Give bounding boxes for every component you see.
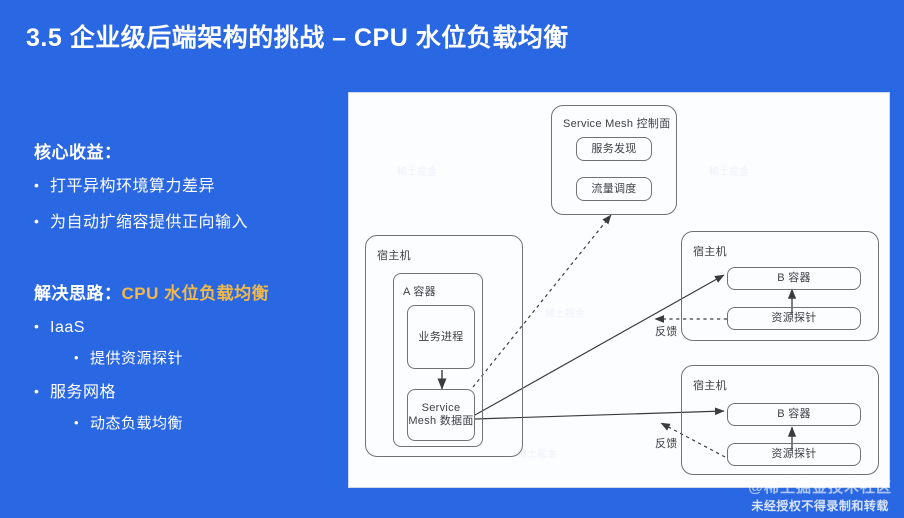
left-host-title: 宿主机 — [377, 247, 411, 263]
solution-label: IaaS — [50, 318, 85, 338]
solution-heading-accent: CPU 水位负载均衡 — [122, 284, 270, 303]
architecture-diagram-panel: 稀土掘金 稀土掘金 稀土掘金 稀土掘金 Service Mesh 控制面 服务发… — [348, 92, 890, 488]
a-container-title: A 容器 — [403, 283, 436, 299]
right-host-2-container-label: B 容器 — [727, 403, 861, 426]
service-discovery-label: 服务发现 — [576, 137, 652, 161]
right-host-1-probe-label: 资源探针 — [727, 307, 861, 330]
right-host-1-container-label: B 容器 — [727, 267, 861, 290]
bullet-dot-icon: • — [34, 213, 50, 231]
right-host-2-probe-label: 资源探针 — [727, 443, 861, 466]
solution-sub-label: 提供资源探针 — [90, 350, 183, 369]
bullet-dot-icon: • — [74, 415, 90, 431]
page-title: 3.5 企业级后端架构的挑战 – CPU 水位负载均衡 — [26, 18, 569, 54]
solution-sub-label: 动态负载均衡 — [90, 415, 183, 434]
list-item: • 为自动扩缩容提供正向输入 — [34, 213, 334, 233]
list-item: • IaaS — [34, 318, 334, 338]
list-item: • 动态负载均衡 — [34, 415, 334, 434]
right-host-1-feedback-label: 反馈 — [655, 323, 678, 339]
watermark-line-2: 未经授权不得录制和转载 — [748, 497, 892, 514]
solution-list: • IaaS • 提供资源探针 • 服务网格 • 动态负载均衡 — [34, 318, 334, 434]
slide-root: 3.5 企业级后端架构的挑战 – CPU 水位负载均衡 核心收益： • 打平异构… — [0, 0, 904, 518]
list-item: • 服务网格 — [34, 383, 334, 403]
list-item: • 提供资源探针 — [34, 350, 334, 369]
bullet-dot-icon: • — [34, 318, 50, 336]
solution-label: 服务网格 — [50, 383, 116, 403]
solution-heading: 解决思路：CPU 水位负载均衡 — [34, 279, 334, 304]
bullet-dot-icon: • — [74, 350, 90, 366]
solution-heading-prefix: 解决思路： — [34, 284, 122, 303]
benefits-heading: 核心收益： — [34, 138, 334, 163]
benefit-label: 打平异构环境算力差异 — [50, 177, 215, 197]
right-host-1-title: 宿主机 — [693, 243, 727, 259]
right-host-2-title: 宿主机 — [693, 377, 727, 393]
bullet-dot-icon: • — [34, 177, 50, 195]
list-item: • 打平异构环境算力差异 — [34, 177, 334, 197]
sidecar-label: Service Mesh 数据面 — [407, 389, 475, 441]
business-process-label: 业务进程 — [407, 305, 475, 369]
benefit-label: 为自动扩缩容提供正向输入 — [50, 213, 248, 233]
control-plane-title: Service Mesh 控制面 — [563, 115, 667, 131]
right-host-2-feedback-label: 反馈 — [655, 435, 678, 451]
bullet-dot-icon: • — [34, 383, 50, 401]
left-content-column: 核心收益： • 打平异构环境算力差异 • 为自动扩缩容提供正向输入 解决思路：C… — [34, 138, 334, 448]
traffic-scheduling-label: 流量调度 — [576, 177, 652, 201]
